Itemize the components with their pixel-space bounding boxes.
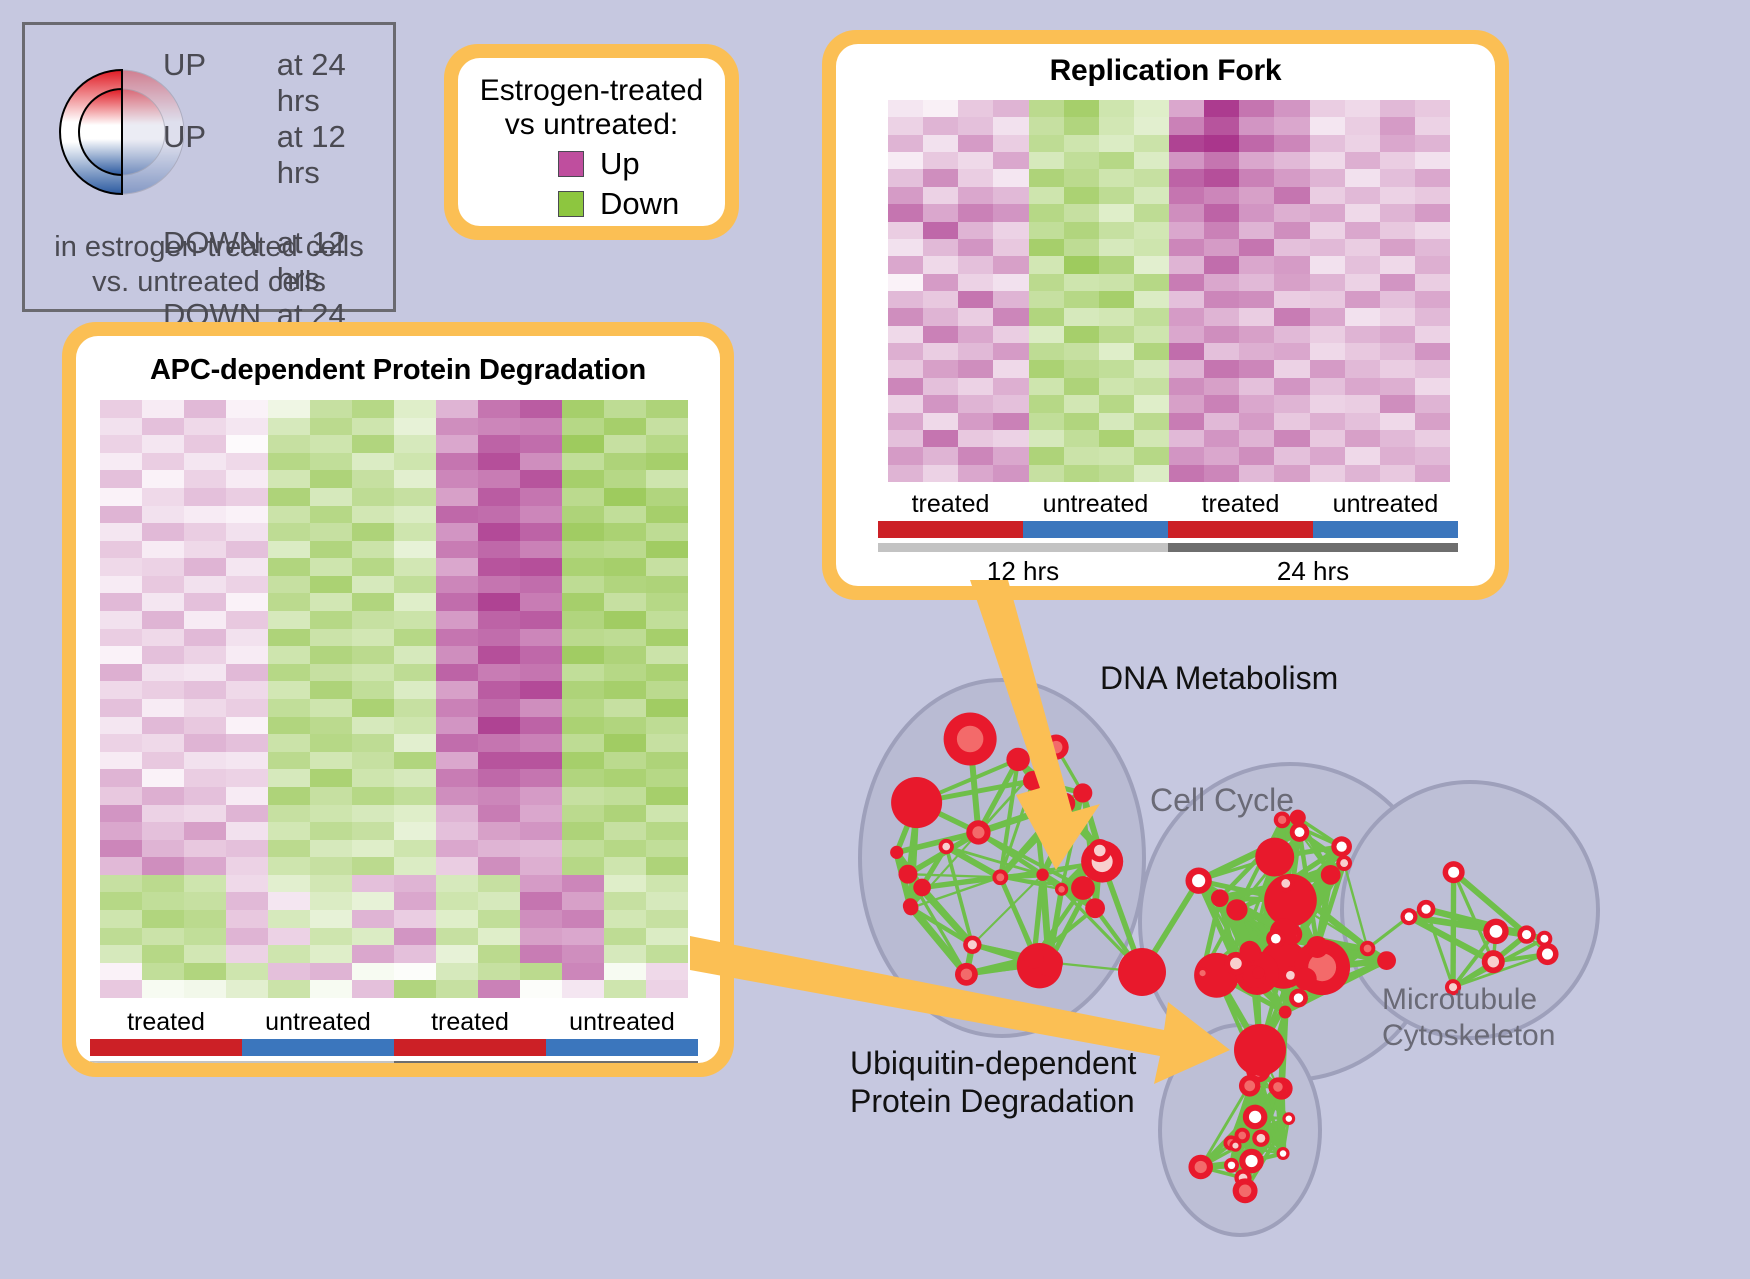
heatmap-cell	[562, 453, 604, 471]
heatmap-cell	[1274, 360, 1309, 377]
heatmap-cell	[888, 430, 923, 447]
heatmap-cell	[436, 840, 478, 858]
heatmap-cell	[1064, 204, 1099, 221]
heatmap-cell	[1415, 343, 1450, 360]
heatmap-cell	[352, 963, 394, 981]
heatmap-cell	[1274, 152, 1309, 169]
network-node[interactable]	[890, 846, 903, 859]
heatmap-cell	[352, 664, 394, 682]
heatmap-cell	[478, 734, 520, 752]
heatmap-cell	[394, 769, 436, 787]
key-caption-line2: vs. untreated cells	[25, 265, 393, 300]
heatmap-cell	[646, 576, 688, 594]
heatmap-cell	[1274, 117, 1309, 134]
heatmap-cell	[1310, 152, 1345, 169]
heatmap-cell	[520, 699, 562, 717]
heatmap-cell	[394, 805, 436, 823]
heatmap-cell	[993, 152, 1028, 169]
heatmap-cell	[1169, 378, 1204, 395]
network-node[interactable]	[1483, 919, 1508, 944]
heatmap-cell	[394, 541, 436, 559]
heatmap-cell	[100, 418, 142, 436]
network-node[interactable]	[904, 900, 919, 915]
heatmap-cell	[993, 274, 1028, 291]
network-node[interactable]	[1537, 931, 1553, 947]
heatmap-cell	[562, 699, 604, 717]
heatmap-cell	[226, 593, 268, 611]
network-node[interactable]	[939, 839, 954, 854]
network-node[interactable]	[1417, 900, 1436, 919]
heatmap-cell	[1274, 135, 1309, 152]
heatmap-cell	[562, 945, 604, 963]
heatmap-cell	[310, 875, 352, 893]
heatmap-cell	[1310, 395, 1345, 412]
heatmap-cell	[604, 506, 646, 524]
heatmap-cell	[1134, 360, 1169, 377]
key-caption-line1: in estrogen-treated cells	[25, 230, 393, 265]
heatmap-cell	[100, 928, 142, 946]
heatmap-cell	[268, 840, 310, 858]
network-node[interactable]	[1360, 941, 1376, 957]
heatmap-cell	[268, 787, 310, 805]
heatmap-cell	[1415, 169, 1450, 186]
heatmap-cell	[394, 787, 436, 805]
heatmap-cell	[888, 308, 923, 325]
heatmap-cell	[1239, 117, 1274, 134]
heatmap-cell	[1064, 447, 1099, 464]
network-node[interactable]	[1443, 861, 1465, 883]
network-node[interactable]	[1277, 875, 1295, 893]
heatmap-cell	[1380, 343, 1415, 360]
heatmap-cell	[520, 769, 562, 787]
heatmap-cell	[1064, 100, 1099, 117]
heatmap-cell	[1239, 169, 1274, 186]
heatmap-cell	[1345, 100, 1380, 117]
heatmap-cell	[1029, 256, 1064, 273]
heatmap-cell	[394, 506, 436, 524]
heatmap-cell	[268, 963, 310, 981]
heatmap-cell	[1345, 222, 1380, 239]
heatmap-cell	[1169, 100, 1204, 117]
heatmap-cell	[1345, 430, 1380, 447]
heatmap-cell	[646, 875, 688, 893]
heatmap-cell	[142, 980, 184, 998]
key-direction: UP	[163, 47, 277, 83]
heatmap-cell	[478, 681, 520, 699]
heatmap-cell	[226, 769, 268, 787]
heatmap-cell	[646, 400, 688, 418]
heatmap-cell	[923, 100, 958, 117]
heatmap-cell	[310, 418, 352, 436]
heatmap-cell	[394, 945, 436, 963]
heatmap-cell	[268, 611, 310, 629]
heatmap-cell	[1274, 222, 1309, 239]
heatmap-cell	[142, 734, 184, 752]
network-node[interactable]	[1252, 1130, 1269, 1147]
heatmap-cell	[352, 506, 394, 524]
heatmap-cell	[1099, 222, 1134, 239]
heatmap-cell	[226, 418, 268, 436]
network-node[interactable]	[1253, 967, 1265, 979]
heatmap-cell	[1204, 291, 1239, 308]
heatmap-cell	[226, 980, 268, 998]
heatmap-cell	[352, 576, 394, 594]
heatmap-cell	[436, 664, 478, 682]
heatmap-cell	[1204, 308, 1239, 325]
heatmap-cell	[1099, 343, 1134, 360]
heatmap-cell	[1239, 204, 1274, 221]
heatmap-cell	[1415, 256, 1450, 273]
treatment-label: treated	[878, 490, 1023, 519]
heatmap-cell	[184, 875, 226, 893]
heatmap-cell	[1345, 291, 1380, 308]
heatmap-cell	[646, 805, 688, 823]
heatmap-cell	[100, 840, 142, 858]
heatmap-cell	[1134, 100, 1169, 117]
heatmap-cell	[993, 378, 1028, 395]
heatmap-cell	[604, 805, 646, 823]
heatmap-cell	[1134, 152, 1169, 169]
network-node[interactable]	[1055, 883, 1068, 896]
heatmap-cell	[1169, 291, 1204, 308]
treatment-label: treated	[90, 1008, 242, 1037]
heatmap-cell	[226, 400, 268, 418]
heatmap-cell	[268, 541, 310, 559]
heatmap-cell	[268, 910, 310, 928]
heatmap-cell	[1064, 395, 1099, 412]
treatment-color-bar	[90, 1039, 698, 1056]
network-node[interactable]	[1188, 1155, 1213, 1180]
heatmap-cell	[436, 470, 478, 488]
heatmap-cell	[923, 152, 958, 169]
heatmap-cell	[142, 681, 184, 699]
heatmap-cell	[1239, 274, 1274, 291]
heatmap-cell	[646, 681, 688, 699]
heatmap-cell	[1415, 465, 1450, 482]
network-node[interactable]	[1234, 1128, 1249, 1143]
heatmap-cell	[1274, 291, 1309, 308]
heatmap-cell	[1274, 465, 1309, 482]
heatmap-cell	[394, 435, 436, 453]
heatmap-cell	[562, 928, 604, 946]
network-node[interactable]	[1255, 838, 1294, 877]
heatmap-cell	[520, 576, 562, 594]
heatmap-cell	[184, 646, 226, 664]
heatmap-cell	[1204, 256, 1239, 273]
heatmap-cell	[100, 752, 142, 770]
heatmap-cell	[1239, 465, 1274, 482]
heatmap-cell	[1310, 274, 1345, 291]
network-node[interactable]	[1517, 925, 1535, 943]
heatmap-cell	[226, 541, 268, 559]
heatmap-cell	[888, 135, 923, 152]
heatmap-cell	[268, 593, 310, 611]
heatmap-cell	[1239, 291, 1274, 308]
heatmap-cell	[226, 928, 268, 946]
heatmap-cell	[394, 717, 436, 735]
network-node[interactable]	[1321, 865, 1341, 885]
heatmap-cell	[184, 945, 226, 963]
heatmap-cell	[184, 699, 226, 717]
heatmap-cell	[1064, 117, 1099, 134]
heatmap-cell	[268, 945, 310, 963]
heatmap-cell	[562, 611, 604, 629]
heatmap-cell	[436, 752, 478, 770]
heatmap-cell	[958, 256, 993, 273]
heatmap-cell	[958, 239, 993, 256]
network-node[interactable]	[913, 879, 931, 897]
heatmap-cell	[226, 506, 268, 524]
heatmap-cell	[184, 611, 226, 629]
network-node[interactable]	[1243, 1105, 1268, 1130]
heatmap-cell	[958, 291, 993, 308]
heatmap-cell	[923, 308, 958, 325]
heatmap-cell	[352, 541, 394, 559]
key-label-list: UP at 24 hrs UP at 12 hrs DOWN at 12 hrs…	[163, 47, 393, 369]
heatmap-cell	[478, 875, 520, 893]
heatmap-cell	[1380, 187, 1415, 204]
network-node[interactable]	[1085, 898, 1105, 918]
color-bar-segment	[90, 1061, 394, 1063]
heatmap-cell	[226, 646, 268, 664]
key-row: UP at 24 hrs	[163, 47, 393, 119]
heatmap-cell	[1239, 308, 1274, 325]
heatmap-cell	[1064, 239, 1099, 256]
heatmap-cell	[1415, 152, 1450, 169]
heatmap-cell	[646, 910, 688, 928]
network-node[interactable]	[1289, 989, 1308, 1008]
heatmap-cell	[184, 734, 226, 752]
heatmap-cell	[478, 646, 520, 664]
heatmap-cell	[562, 470, 604, 488]
heatmap-cell	[562, 840, 604, 858]
network-node[interactable]	[1211, 889, 1229, 907]
heatmap-cell	[226, 892, 268, 910]
network-node[interactable]	[1224, 1158, 1239, 1173]
heatmap-cell	[993, 169, 1028, 186]
heatmap-cell	[478, 980, 520, 998]
heatmap-cell	[142, 752, 184, 770]
heatmap-cell	[923, 326, 958, 343]
heatmap-cell	[520, 681, 562, 699]
heatmap-cell	[268, 857, 310, 875]
heatmap-cell	[226, 875, 268, 893]
heatmap-cell	[268, 576, 310, 594]
heatmap-cell	[226, 734, 268, 752]
heatmap-cell	[993, 343, 1028, 360]
heatmap-cell	[1169, 152, 1204, 169]
network-node[interactable]	[1277, 1147, 1290, 1160]
replication-fork-heatmap	[888, 100, 1450, 482]
heatmap-cell	[310, 611, 352, 629]
heatmap-cell	[352, 717, 394, 735]
heatmap-cell	[604, 910, 646, 928]
heatmap-cell	[1064, 326, 1099, 343]
network-node[interactable]	[1279, 1006, 1292, 1019]
apc-heatmap	[100, 400, 688, 998]
heatmap-cell	[142, 418, 184, 436]
heatmap-cell	[646, 840, 688, 858]
heatmap-cell	[184, 910, 226, 928]
heatmap-cell	[923, 395, 958, 412]
heatmap-cell	[478, 752, 520, 770]
heatmap-cell	[993, 204, 1028, 221]
heatmap-cell	[268, 752, 310, 770]
heatmap-cell	[268, 769, 310, 787]
network-node[interactable]	[1294, 968, 1317, 991]
heatmap-cell	[478, 822, 520, 840]
heatmap-cell	[958, 343, 993, 360]
heatmap-cell	[142, 523, 184, 541]
network-node[interactable]	[1306, 936, 1328, 958]
heatmap-cell	[1099, 447, 1134, 464]
heatmap-cell	[923, 360, 958, 377]
heatmap-cell	[478, 435, 520, 453]
network-node[interactable]	[1336, 855, 1352, 871]
heatmap-cell	[1345, 395, 1380, 412]
heatmap-cell	[646, 506, 688, 524]
heatmap-cell	[226, 910, 268, 928]
heatmap-cell	[226, 664, 268, 682]
heatmap-cell	[352, 523, 394, 541]
heatmap-cell	[184, 488, 226, 506]
heatmap-cell	[1134, 465, 1169, 482]
heatmap-cell	[1415, 239, 1450, 256]
heatmap-cell	[310, 523, 352, 541]
heatmap-cell	[993, 308, 1028, 325]
heatmap-cell	[142, 611, 184, 629]
heatmap-cell	[310, 576, 352, 594]
heatmap-cell	[478, 910, 520, 928]
heatmap-cell	[646, 470, 688, 488]
heatmap-cell	[310, 980, 352, 998]
network-node[interactable]	[1268, 1077, 1287, 1096]
heatmap-cell	[226, 840, 268, 858]
heatmap-cell	[184, 470, 226, 488]
heatmap-cell	[268, 506, 310, 524]
network-node[interactable]	[891, 777, 942, 828]
network-node[interactable]	[1482, 950, 1505, 973]
heatmap-cell	[394, 629, 436, 647]
treatment-label: untreated	[1023, 490, 1168, 519]
heatmap-cell	[520, 787, 562, 805]
heatmap-cell	[1064, 308, 1099, 325]
heatmap-cell	[394, 822, 436, 840]
network-node[interactable]	[1282, 1112, 1295, 1125]
heatmap-cell	[100, 470, 142, 488]
heatmap-cell	[520, 664, 562, 682]
replication-fork-panel: Replication Fork treated untreated treat…	[822, 30, 1509, 600]
timepoint-color-bar	[878, 543, 1458, 552]
heatmap-cell	[1029, 291, 1064, 308]
heatmap-cell	[646, 945, 688, 963]
heatmap-cell	[226, 453, 268, 471]
heatmap-cell	[888, 378, 923, 395]
key-direction: UP	[163, 119, 277, 155]
heatmap-cell	[184, 576, 226, 594]
heatmap-cell	[888, 291, 923, 308]
heatmap-cell	[1134, 187, 1169, 204]
heatmap-cell	[562, 435, 604, 453]
heatmap-cell	[142, 769, 184, 787]
legend-key-box: UP at 24 hrs UP at 12 hrs DOWN at 12 hrs…	[22, 22, 396, 312]
heatmap-cell	[310, 963, 352, 981]
heatmap-cell	[993, 395, 1028, 412]
heatmap-cell	[993, 447, 1028, 464]
key-time: at 24 hrs	[277, 47, 393, 119]
heatmap-cell	[268, 664, 310, 682]
heatmap-cell	[1274, 274, 1309, 291]
heatmap-cell	[184, 840, 226, 858]
heatmap-cell	[142, 892, 184, 910]
heatmap-cell	[478, 699, 520, 717]
heatmap-cell	[478, 488, 520, 506]
heatmap-cell	[1169, 274, 1204, 291]
network-node[interactable]	[898, 865, 917, 884]
network-node[interactable]	[1226, 899, 1247, 920]
network-node[interactable]	[1185, 868, 1211, 894]
network-node[interactable]	[1377, 951, 1396, 970]
network-node[interactable]	[1400, 908, 1417, 925]
heatmap-cell	[562, 558, 604, 576]
heatmap-cell	[310, 488, 352, 506]
heatmap-cell	[1029, 204, 1064, 221]
heatmap-cell	[100, 593, 142, 611]
heatmap-cell	[993, 187, 1028, 204]
heatmap-cell	[268, 400, 310, 418]
heatmap-cell	[1204, 135, 1239, 152]
network-node[interactable]	[1331, 836, 1352, 857]
heatmap-cell	[958, 222, 993, 239]
heatmap-cell	[993, 100, 1028, 117]
heatmap-cell	[1029, 378, 1064, 395]
heatmap-cell	[646, 717, 688, 735]
heatmap-cell	[1134, 308, 1169, 325]
heatmap-cell	[226, 523, 268, 541]
heatmap-cell	[1380, 291, 1415, 308]
panel-title-replication-fork: Replication Fork	[836, 44, 1495, 88]
heatmap-cell	[268, 822, 310, 840]
heatmap-cell	[562, 664, 604, 682]
heatmap-cell	[520, 875, 562, 893]
heatmap-cell	[1169, 169, 1204, 186]
network-node[interactable]	[1266, 929, 1285, 948]
heatmap-cell	[478, 664, 520, 682]
heatmap-cell	[268, 805, 310, 823]
heatmap-cell	[1239, 135, 1274, 152]
network-node[interactable]	[1536, 943, 1558, 965]
heatmap-cell	[394, 840, 436, 858]
network-node[interactable]	[1233, 1178, 1258, 1203]
heatmap-cell	[923, 291, 958, 308]
heatmap-cell	[1029, 239, 1064, 256]
heatmap-cell	[1415, 274, 1450, 291]
heatmap-cell	[184, 787, 226, 805]
heatmap-cell	[436, 699, 478, 717]
heatmap-cell	[436, 418, 478, 436]
heatmap-cell	[142, 717, 184, 735]
heatmap-cell	[562, 910, 604, 928]
key-row: UP at 12 hrs	[163, 119, 393, 191]
heatmap-cell	[226, 681, 268, 699]
heatmap-cell	[993, 239, 1028, 256]
heatmap-cell	[604, 980, 646, 998]
heatmap-cell	[478, 541, 520, 559]
heatmap-cell	[1134, 117, 1169, 134]
heatmap-cell	[1274, 100, 1309, 117]
heatmap-cell	[1345, 360, 1380, 377]
heatmap-cell	[1345, 465, 1380, 482]
